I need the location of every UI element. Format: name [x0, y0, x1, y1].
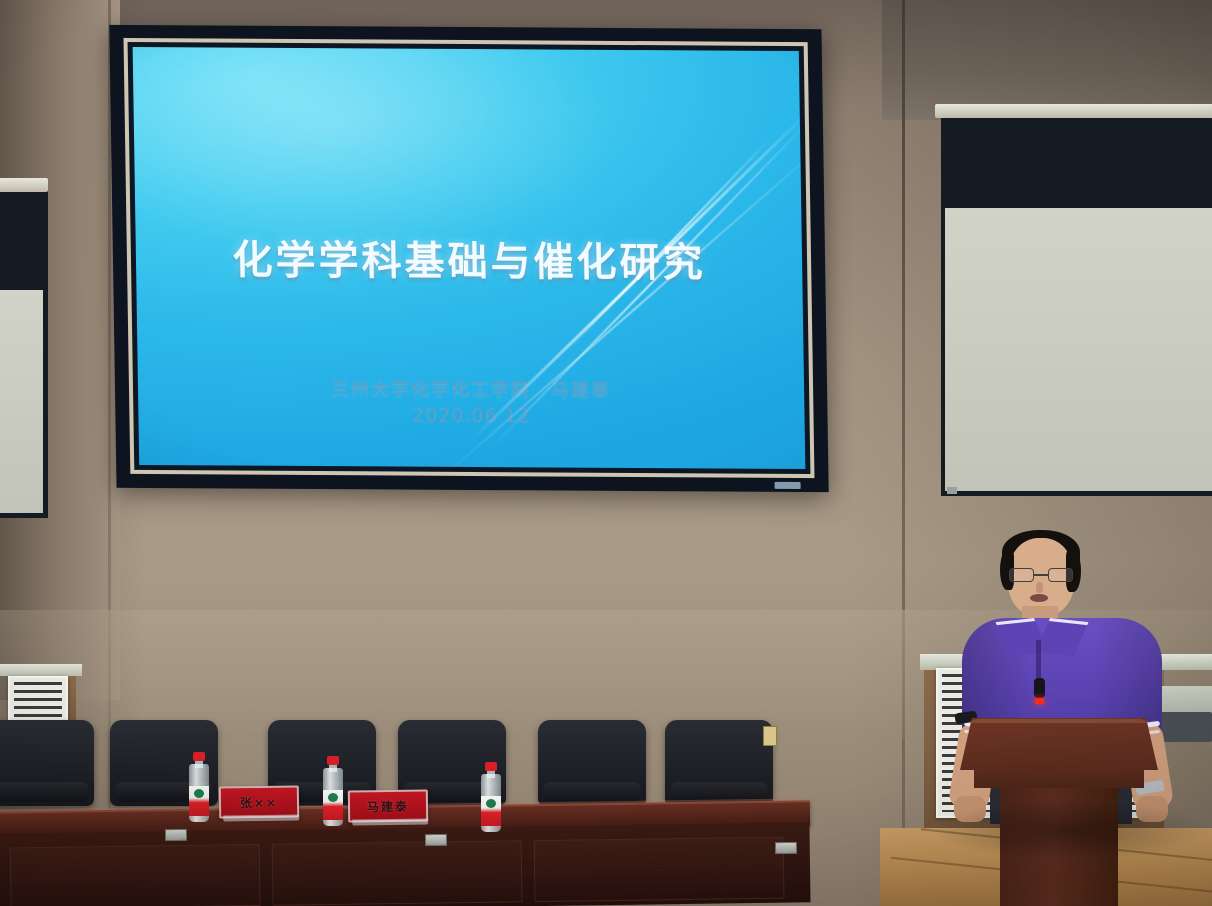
table-metal-plate [165, 829, 187, 841]
right-screen-surface [945, 208, 1212, 491]
water-bottle[interactable] [481, 762, 501, 832]
podium-lectern-top[interactable] [960, 718, 1158, 770]
main-projection-screen[interactable]: 化学学科基础与催化研究 兰州大学化学化工学院 马建泰 2020.06.12 [109, 25, 828, 492]
bottle-logo-icon [194, 789, 204, 798]
table-panel-chevron [56, 876, 215, 904]
bottle-logo-icon [486, 799, 496, 808]
left-screen-housing [0, 178, 48, 192]
nameplate: 马建泰 [348, 789, 428, 822]
right-screen-border [941, 116, 1212, 496]
glasses-bridge [1034, 574, 1048, 576]
bottle-cap[interactable] [485, 762, 497, 771]
chair[interactable] [538, 720, 646, 806]
left-pull-down-screen[interactable] [0, 178, 48, 518]
right-screen-pull-tab[interactable] [947, 487, 957, 494]
bottle-cap[interactable] [193, 752, 205, 761]
podium-edge-highlight [966, 719, 1152, 723]
glasses-lens-left [1009, 568, 1034, 582]
nameplate-text: 张×× [240, 793, 278, 811]
chair[interactable] [0, 720, 94, 806]
bottle-logo-icon [328, 793, 338, 802]
right-screen-housing [935, 104, 1212, 118]
left-counter-ledge [0, 664, 82, 676]
microphone-led-indicator [1035, 698, 1044, 704]
lecture-hall-scene: 化学学科基础与催化研究 兰州大学化学化工学院 马建泰 2020.06.12 [0, 0, 1212, 906]
nameplate-stand [223, 814, 299, 821]
right-pull-down-screen[interactable] [935, 104, 1212, 496]
water-bottle[interactable] [323, 756, 343, 826]
table-panel [534, 837, 785, 902]
bottle-cap[interactable] [327, 756, 339, 765]
table-panel [10, 844, 261, 906]
mouth [1030, 594, 1048, 602]
water-bottle[interactable] [189, 752, 209, 822]
nameplate-stand [352, 818, 428, 825]
table-metal-plate [425, 834, 447, 846]
screen-brand-label [775, 482, 801, 489]
left-screen-surface [0, 290, 43, 513]
chair-label-tag [763, 726, 777, 746]
podium-shadow [930, 800, 1210, 860]
nose [1036, 582, 1043, 593]
shirt-placket [1036, 640, 1041, 682]
table-metal-plate [775, 842, 797, 854]
glasses-icon [1008, 568, 1074, 582]
nameplate-text: 马建泰 [367, 797, 409, 815]
lapel-microphone-icon [1034, 678, 1045, 698]
left-screen-border [0, 190, 48, 518]
table-panel [272, 840, 523, 905]
table-panel-chevron [318, 872, 477, 900]
slide-vignette [133, 47, 806, 469]
screen-mat-border: 化学学科基础与催化研究 兰州大学化学化工学院 马建泰 2020.06.12 [123, 38, 814, 478]
screen-inner-frame: 化学学科基础与催化研究 兰州大学化学化工学院 马建泰 2020.06.12 [128, 42, 811, 474]
presentation-slide[interactable]: 化学学科基础与催化研究 兰州大学化学化工学院 马建泰 2020.06.12 [133, 47, 806, 469]
glasses-lens-right [1048, 568, 1073, 582]
nameplate: 张×× [219, 785, 299, 818]
chair[interactable] [665, 720, 773, 806]
conference-table-front [0, 822, 811, 906]
table-panel-chevron [580, 868, 739, 896]
